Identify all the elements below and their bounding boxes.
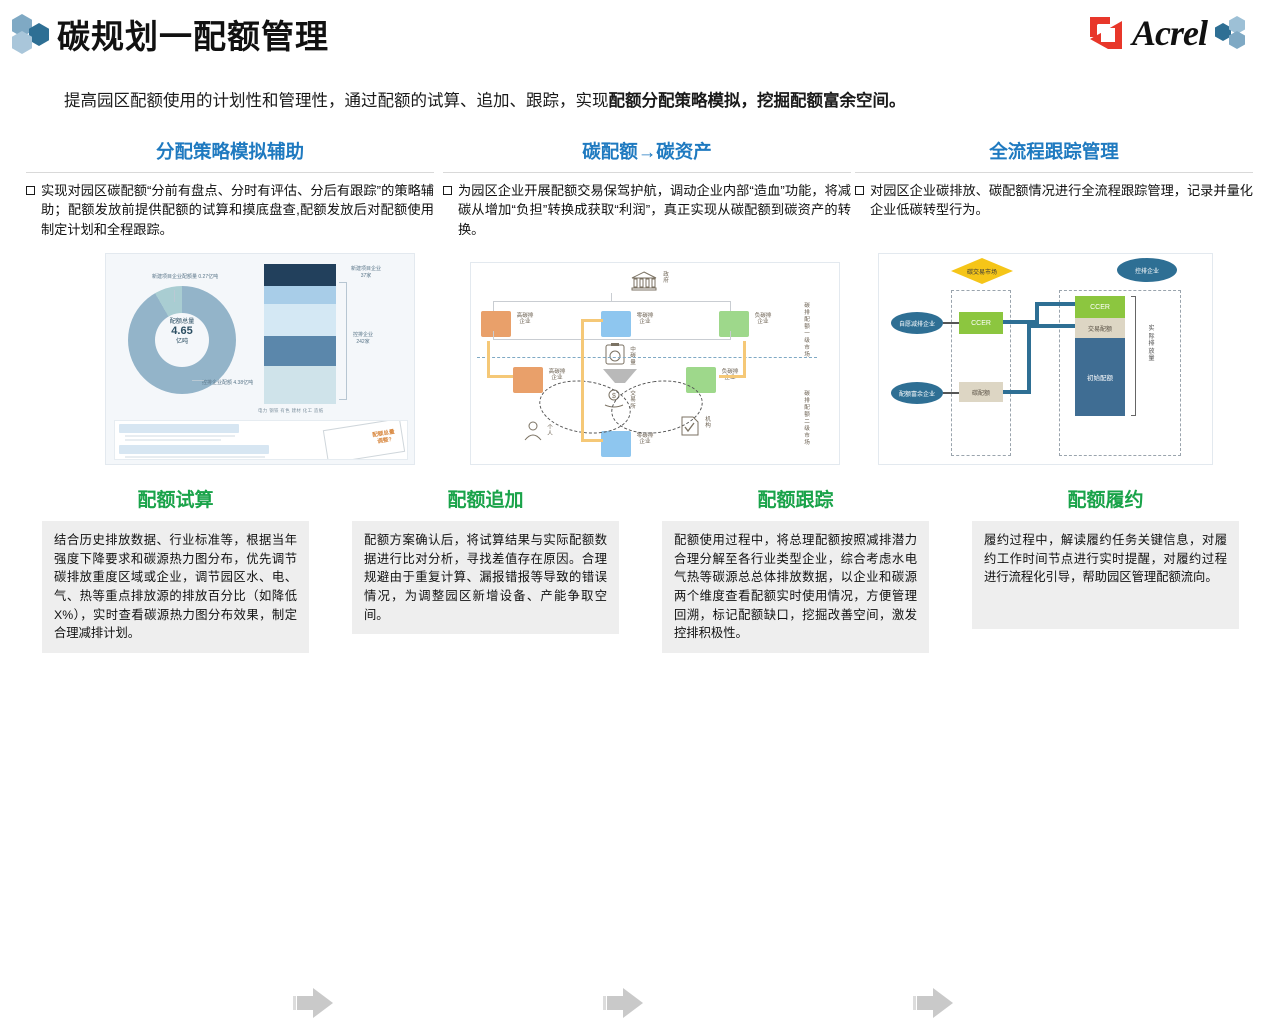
bar-label-new-projects: 新建项目企业 37家: [351, 266, 381, 279]
node-high-carbon-tier2: [513, 367, 543, 393]
column-heading-3: 全流程跟踪管理: [849, 138, 1259, 170]
square-bullet-icon: [855, 186, 864, 195]
square-bullet-icon: [26, 186, 35, 195]
clipboard-icon: [605, 343, 625, 365]
subtitle: 提高园区配额使用的计划性和管理性，通过配额的试算、追加、跟踪，实现配额分配策略模…: [64, 90, 1224, 113]
figure-carbon-market-flow: 政 府 高碳排 企业 零碳排 企业 负碳排 企业 碳 排 配 额 一 级 市 场…: [470, 262, 840, 465]
process-steps: 配额试算 结合历史排放数据、行业标准等，根据当年强度下降要求和碳源热力图分布，优…: [0, 485, 1263, 685]
actual-emission-label: 实 际 排 放 量: [1147, 326, 1156, 364]
node-high-carbon-tier2-label: 高碳排 企业: [545, 369, 569, 382]
column-carbon-asset: 碳配额→碳资产 为园区企业开展配额交易保驾护航，调动企业内部“造血”功能，将减碳…: [437, 138, 857, 239]
donut-center-unit: 亿吨: [142, 338, 222, 345]
brand-name: Acrel: [1132, 15, 1207, 51]
page-header: 碳规划一配额管理 Acrel: [0, 0, 1263, 70]
quota-detail-panel: 配额总量 调整?: [114, 420, 408, 460]
bullet-text-1: 实现对园区碳配额“分前有盘点、分时有评估、分后有跟踪”的策略辅助；配额发放前提供…: [41, 181, 434, 239]
column-heading-1: 分配策略模拟辅助: [20, 138, 440, 170]
stack-ccer: CCER: [1075, 296, 1125, 318]
subtitle-bold: 配额分配策略模拟，挖掘配额富余空间。: [609, 92, 906, 110]
stacked-bar-chart: [264, 264, 336, 404]
hexagon-cluster-icon-right: [1215, 16, 1251, 50]
right-arrow-icon: [913, 988, 957, 1018]
page-title: 碳规划一配额管理: [57, 10, 329, 58]
surplus-quota-oval: 配额富余企业: [891, 382, 943, 404]
node-zero-carbon-tier1: [601, 311, 631, 337]
bar-legend: 电力 钢铁 有色 建材 化工 造纸: [258, 408, 324, 414]
government-label: 政 府: [661, 272, 671, 285]
step-card-4: 配额履约 履约过程中，解读履约任务关键信息，对履约工作时间节点进行实时提醒，对履…: [972, 485, 1239, 629]
bullet-item-2: 为园区企业开展配额交易保驾护航，调动企业内部“造血”功能，将减碳从增加“负担”转…: [437, 181, 857, 239]
node-negative-carbon-tier1-label: 负碳排 企业: [751, 313, 775, 326]
column-heading-2: 碳配额→碳资产: [437, 138, 857, 170]
bullet-item-1: 实现对园区碳配额“分前有盘点、分时有评估、分后有跟踪”的策略辅助；配额发放前提供…: [20, 181, 440, 239]
node-zero-carbon-tier2-label: 零碳排 企业: [633, 433, 657, 446]
donut-note-top: 新建项目企业配额量 0.27亿吨: [152, 274, 218, 280]
tier2-market-label: 碳 排 配 额 二 级 市 场: [801, 391, 813, 447]
square-bullet-icon: [443, 186, 452, 195]
step-title-1: 配额试算: [42, 485, 309, 512]
person-icon: [523, 421, 543, 441]
bar-segment: [264, 336, 336, 366]
divider: [26, 172, 434, 173]
right-arrow-icon: [603, 988, 647, 1018]
tier1-market-label: 碳 排 配 额 一 级 市 场: [801, 303, 813, 359]
bullet-item-3: 对园区企业碳排放、碳配额情况进行全流程跟踪管理，记录并量化企业低碳转型行为。: [849, 181, 1259, 220]
acrel-logo-icon: [1088, 15, 1124, 51]
ccer-box: CCER: [959, 312, 1003, 334]
divider: [855, 172, 1253, 173]
node-zero-carbon-tier1-label: 零碳排 企业: [633, 313, 657, 326]
leader-line: [174, 290, 175, 302]
step-title-4: 配额履约: [972, 485, 1239, 512]
donut-chart: 新建项目企业配额量 0.27亿吨 配额总量 4.65 亿吨 控排企业配额 4.3…: [114, 276, 259, 406]
bar-segment: [264, 366, 336, 404]
down-arrow-icon: [603, 369, 637, 383]
voluntary-reduction-oval: 自愿减排企业: [891, 312, 943, 334]
donut-center-label: 配额总量 4.65 亿吨: [142, 318, 222, 345]
panel-title-1: [119, 424, 239, 433]
bar-label-controlled: 控排企业 242家: [353, 332, 373, 345]
person-label: 个 人: [545, 425, 555, 438]
step-title-3: 配额跟踪: [662, 485, 929, 512]
institution-icon: [679, 415, 701, 437]
step-card-1: 配额试算 结合历史排放数据、行业标准等，根据当年强度下降要求和碳源热力图分布，优…: [42, 485, 309, 653]
node-high-carbon-tier1-label: 高碳排 企业: [513, 313, 537, 326]
step-body-4: 履约过程中，解读履约任务关键信息，对履约工作时间节点进行实时提醒，对履约过程进行…: [972, 521, 1239, 629]
bar-segment: [264, 286, 336, 304]
bullet-text-2: 为园区企业开展配额交易保驾护航，调动企业内部“造血”功能，将减碳从增加“负担”转…: [458, 181, 851, 239]
stack-traded-quota: 交易配额: [1075, 318, 1125, 338]
node-zero-carbon-tier2: [601, 431, 631, 457]
step-title-2: 配额追加: [352, 485, 619, 512]
figure-quota-overview: 新建项目企业配额量 0.27亿吨 配额总量 4.65 亿吨 控排企业配额 4.3…: [105, 253, 415, 465]
brace-bracket: [1131, 296, 1136, 416]
institution-label: 机 构: [703, 417, 713, 430]
bar-segment: [264, 304, 336, 336]
step-card-3: 配额跟踪 配额使用过程中，将总理配额按照减排潜力合理分解至各行业类型企业，综合考…: [662, 485, 929, 653]
right-arrow-icon: [293, 988, 337, 1018]
figure-ccer-flow: 碳交易市场 控排企业 自愿减排企业 配额富余企业 CCER 碳配额 CCER 交…: [878, 253, 1213, 465]
node-negative-carbon-tier1: [719, 311, 749, 337]
controlled-enterprise-oval: 控排企业: [1117, 258, 1177, 282]
column-full-process-tracking: 全流程跟踪管理 对园区企业碳排放、碳配额情况进行全流程跟踪管理，记录并量化企业低…: [849, 138, 1259, 220]
column-allocation-strategy: 分配策略模拟辅助 实现对园区碳配额“分前有盘点、分时有评估、分后有跟踪”的策略辅…: [20, 138, 440, 239]
government-icon: [631, 271, 657, 291]
step-body-1: 结合历史排放数据、行业标准等，根据当年强度下降要求和碳源热力图分布，优先调节碳排…: [42, 521, 309, 653]
brace-bracket: [339, 282, 347, 400]
carbon-market-diamond: 碳交易市场: [951, 258, 1013, 284]
bullet-text-3: 对园区企业碳排放、碳配额情况进行全流程跟踪管理，记录并量化企业低碳转型行为。: [870, 181, 1253, 220]
divider: [443, 172, 851, 173]
node-high-carbon-tier1: [481, 311, 511, 337]
step-body-2: 配额方案确认后，将试算结果与实际配额数据进行比对分析，寻找差值存在原因。合理规避…: [352, 521, 619, 634]
step-card-2: 配额追加 配额方案确认后，将试算结果与实际配额数据进行比对分析，寻找差值存在原因…: [352, 485, 619, 634]
carbon-quota-box: 碳配额: [959, 382, 1003, 402]
step-body-3: 配额使用过程中，将总理配额按照减排潜力合理分解至各行业类型企业，综合考虑水电气热…: [662, 521, 929, 653]
bar-segment: [264, 264, 336, 286]
donut-center-value: 4.65: [142, 325, 222, 338]
brand-logo: Acrel: [1088, 12, 1251, 54]
subtitle-plain: 提高园区配额使用的计划性和管理性，通过配额的试算、追加、跟踪，实现: [64, 92, 609, 110]
donut-center-title: 配额总量: [142, 318, 222, 325]
hexagon-cluster-icon: [12, 14, 58, 54]
donut-note-bottom: 控排企业配额 4.38亿吨: [202, 380, 253, 386]
panel-title-2: [119, 445, 269, 454]
stack-initial-quota: 初始配额: [1075, 338, 1125, 416]
leader-line: [192, 380, 204, 381]
